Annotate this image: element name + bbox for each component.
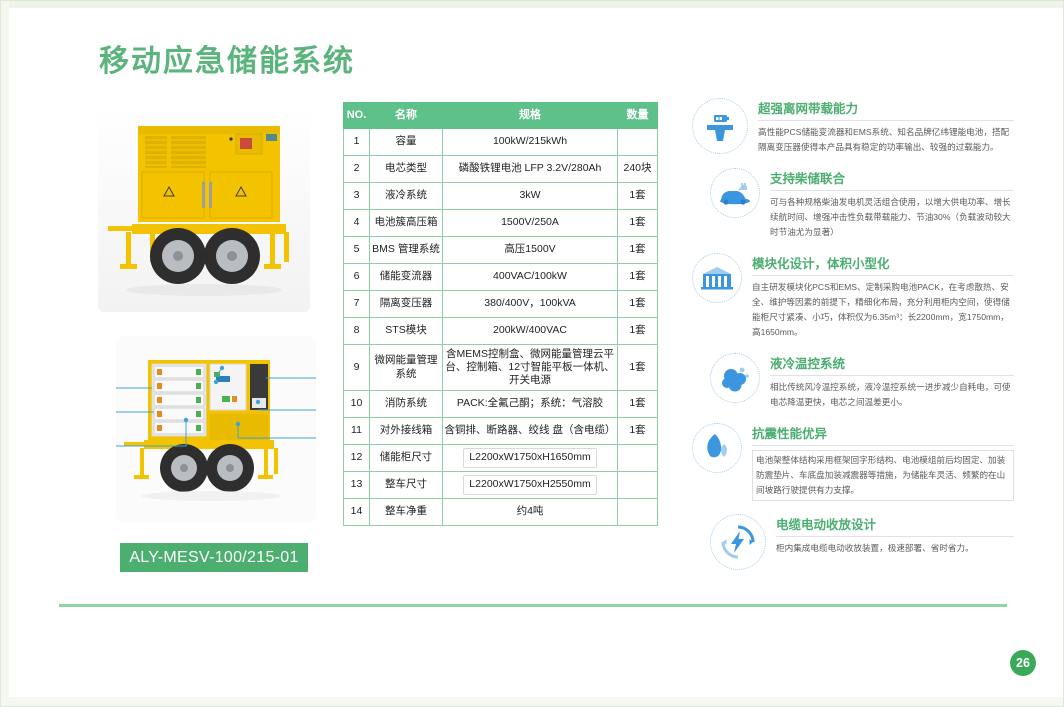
cell-name: 整车尺寸 [370,472,443,499]
cell-spec: 380/400V，100kVA [443,291,618,318]
cell-spec: 400VAC/100kW [443,264,618,291]
cell-name: 液冷系统 [370,183,443,210]
column-header-spec: 规格 [443,103,618,129]
feature-description: 可与各种规格柴油发电机灵活组合使用，以增大供电功率、增长续航时间、增强冲击性负载… [770,195,1014,240]
product-code-badge: ALY-MESV-100/215-01 [120,543,308,572]
cell-no: 7 [344,291,370,318]
presentation-slide: 移动应急储能系统 [0,0,1064,707]
cell-qty [618,499,658,526]
cell-no: 9 [344,345,370,391]
page-number-badge: 26 [1010,650,1036,676]
cell-qty [618,472,658,499]
off-grid-battery-icon [692,98,748,154]
feature-title: 模块化设计，体积小型化 [752,253,1014,272]
cell-name: 微网能量管理系统 [370,345,443,391]
feature-title: 超强离网带载能力 [758,98,1014,117]
liquid-cooling-cloud-icon [710,353,760,403]
feature-divider [752,445,1014,446]
feature-title: 抗震性能优异 [752,423,1014,442]
cell-qty: 1套 [618,318,658,345]
cell-no: 10 [344,391,370,418]
cell-qty: 1套 [618,345,658,391]
cell-qty: 1套 [618,210,658,237]
slide-bottom-edge [0,697,1064,707]
cell-qty: 1套 [618,391,658,418]
cell-name: 电池簇高压箱 [370,210,443,237]
feature-title: 支持柴储联合 [770,168,1014,187]
shock-resistance-leaf-icon [692,423,742,473]
cable-reel-lightning-icon [710,514,766,570]
electric-vehicle-charging-icon [710,168,760,218]
cell-name: 整车净重 [370,499,443,526]
feature-description: 高性能PCS储能变流器和EMS系统、知名品牌亿纬锂能电池，搭配隔离变压器使得本产… [758,125,1014,155]
feature-body: 电缆电动收放设计柜内集成电缆电动收放装置，极速部署、省时省力。 [776,512,1014,556]
trailer-interior-illustration [116,336,316,522]
cell-no: 14 [344,499,370,526]
cell-spec-value: L2200xW1750xH2550mm [463,475,596,494]
cell-spec: 200kW/400VAC [443,318,618,345]
feature-body: 抗震性能优异电池架整体结构采用框架回字形结构、电池模组前后均固定、加装防震垫片、… [752,421,1014,501]
feature-divider [770,190,1014,191]
cell-spec: 1500V/250A [443,210,618,237]
cell-no: 12 [344,445,370,472]
cell-spec: 3kW [443,183,618,210]
feature-divider [752,275,1014,276]
bottom-divider [59,604,1007,607]
product-image-exterior [98,104,310,312]
feature-title: 电缆电动收放设计 [776,514,1014,533]
feature-description: 相比传统风冷温控系统，液冷温控系统一进步减少自耗电，可使电芯降温更快，电芯之间温… [770,380,1014,410]
product-image-interior [116,336,316,522]
feature-title: 液冷温控系统 [770,353,1014,372]
cell-no: 1 [344,129,370,156]
slide-left-edge [0,0,9,707]
cell-name: 容量 [370,129,443,156]
column-header-name: 名称 [370,103,443,129]
cell-name: 储能柜尺寸 [370,445,443,472]
cell-name: 储能变流器 [370,264,443,291]
feature-body: 模块化设计，体积小型化自主研发模块化PCS和EMS、定制采购电池PACK，在考虑… [752,251,1014,340]
table-row: 9微网能量管理系统含MEMS控制盒、微网能量管理云平台、控制箱、12寸智能平板一… [344,345,658,391]
feature-body: 液冷温控系统相比传统风冷温控系统，液冷温控系统一进步减少自耗电，可使电芯降温更快… [770,351,1014,410]
feature-description: 柜内集成电缆电动收放装置，极速部署、省时省力。 [776,541,1014,556]
cell-spec: 高压1500V [443,237,618,264]
table-row: 8STS模块200kW/400VAC1套 [344,318,658,345]
table-row: 7隔离变压器380/400V，100kVA1套 [344,291,658,318]
table-row: 11对外接线箱含铜排、断路器、绞线 盘（含电缆）1套 [344,418,658,445]
cell-no: 6 [344,264,370,291]
table-row: 14整车净重约4吨 [344,499,658,526]
cell-no: 5 [344,237,370,264]
trailer-exterior-illustration [98,104,310,312]
feature-list: 超强离网带载能力高性能PCS储能变流器和EMS系统、知名品牌亿纬锂能电池，搭配隔… [692,96,1014,581]
slide-top-edge [0,0,1064,8]
cell-qty: 240块 [618,156,658,183]
cell-qty: 1套 [618,291,658,318]
cell-no: 8 [344,318,370,345]
table-row: 3液冷系统3kW1套 [344,183,658,210]
cell-spec: PACK:全氟己酮；系统：气溶胶 [443,391,618,418]
table-row: 13整车尺寸L2200xW1750xH2550mm [344,472,658,499]
cell-qty: 1套 [618,418,658,445]
cell-qty: 1套 [618,183,658,210]
table-row: 5BMS 管理系统高压1500V1套 [344,237,658,264]
modular-cabinet-icon [692,253,742,303]
cell-no: 3 [344,183,370,210]
page-title: 移动应急储能系统 [99,36,355,80]
table-row: 10消防系统PACK:全氟己酮；系统：气溶胶1套 [344,391,658,418]
cell-qty [618,129,658,156]
cell-name: BMS 管理系统 [370,237,443,264]
feature-body: 支持柴储联合可与各种规格柴油发电机灵活组合使用，以增大供电功率、增长续航时间、增… [770,166,1014,240]
cell-spec: L2200xW1750xH2550mm [443,472,618,499]
column-header-no: NO. [344,103,370,129]
cell-spec: 含MEMS控制盒、微网能量管理云平台、控制箱、12寸智能平板一体机、开关电源 [443,345,618,391]
feature-item: 模块化设计，体积小型化自主研发模块化PCS和EMS、定制采购电池PACK，在考虑… [692,251,1014,340]
cell-spec: 100kW/215kWh [443,129,618,156]
cell-spec-value: L2200xW1750xH1650mm [463,448,596,467]
cell-name: STS模块 [370,318,443,345]
feature-item: 抗震性能优异电池架整体结构采用框架回字形结构、电池模组前后均固定、加装防震垫片、… [692,421,1014,501]
cell-no: 4 [344,210,370,237]
feature-item: 液冷温控系统相比传统风冷温控系统，液冷温控系统一进步减少自耗电，可使电芯降温更快… [692,351,1014,410]
cell-no: 2 [344,156,370,183]
cell-name: 隔离变压器 [370,291,443,318]
table-row: 1容量100kW/215kWh [344,129,658,156]
feature-divider [758,120,1014,121]
cell-spec: 磷酸铁锂电池 LFP 3.2V/280Ah [443,156,618,183]
feature-item: 支持柴储联合可与各种规格柴油发电机灵活组合使用，以增大供电功率、增长续航时间、增… [692,166,1014,240]
specification-table: NO. 名称 规格 数量 1容量100kW/215kWh2电芯类型磷酸铁锂电池 … [343,102,658,526]
cell-qty: 1套 [618,237,658,264]
table-row: 4电池簇高压箱1500V/250A1套 [344,210,658,237]
cell-spec: 约4吨 [443,499,618,526]
cell-qty: 1套 [618,264,658,291]
column-header-qty: 数量 [618,103,658,129]
feature-description: 自主研发模块化PCS和EMS、定制采购电池PACK，在考虑散热、安全、维护等因素… [752,280,1014,340]
cell-spec: L2200xW1750xH1650mm [443,445,618,472]
cell-qty [618,445,658,472]
feature-divider [770,375,1014,376]
cell-name: 消防系统 [370,391,443,418]
feature-divider [776,536,1014,537]
cell-spec: 含铜排、断路器、绞线 盘（含电缆） [443,418,618,445]
feature-body: 超强离网带载能力高性能PCS储能变流器和EMS系统、知名品牌亿纬锂能电池，搭配隔… [758,96,1014,155]
cell-no: 13 [344,472,370,499]
cell-no: 11 [344,418,370,445]
table-header-row: NO. 名称 规格 数量 [344,103,658,129]
feature-item: 超强离网带载能力高性能PCS储能变流器和EMS系统、知名品牌亿纬锂能电池，搭配隔… [692,96,1014,155]
table-row: 12储能柜尺寸L2200xW1750xH1650mm [344,445,658,472]
feature-description: 电池架整体结构采用框架回字形结构、电池模组前后均固定、加装防震垫片、车底盘加装减… [752,450,1014,501]
cell-name: 对外接线箱 [370,418,443,445]
feature-item: 电缆电动收放设计柜内集成电缆电动收放装置，极速部署、省时省力。 [692,512,1014,570]
table-row: 2电芯类型磷酸铁锂电池 LFP 3.2V/280Ah240块 [344,156,658,183]
table-row: 6储能变流器400VAC/100kW1套 [344,264,658,291]
cell-name: 电芯类型 [370,156,443,183]
